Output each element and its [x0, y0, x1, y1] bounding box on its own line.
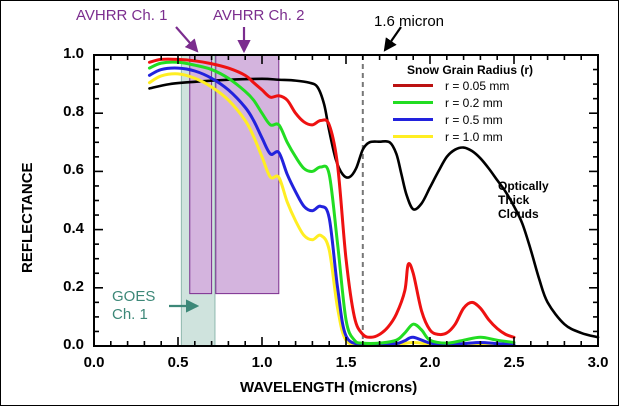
legend-swatch [393, 84, 433, 87]
legend-label: r = 0.5 mm [445, 113, 503, 127]
goes-ch1-annotation-line1: GOES [112, 288, 155, 305]
avhrr-ch1-annotation: AVHRR Ch. 1 [76, 7, 167, 24]
y-axis-title: REFLECTANCE [19, 162, 36, 273]
x-tick-label: 3.0 [582, 354, 614, 371]
y-tick-label: 0.8 [46, 103, 84, 120]
y-tick-label: 1.0 [46, 45, 84, 62]
clouds-annotation-line3: Clouds [498, 207, 539, 221]
x-tick-label: 2.5 [498, 354, 530, 371]
x-tick-label: 1.5 [330, 354, 362, 371]
y-tick-label: 0.4 [46, 220, 84, 237]
legend-item: r = 0.2 mm [393, 94, 533, 111]
clouds-annotation-line1: Optically [498, 179, 549, 193]
avhrr-ch2-annotation: AVHRR Ch. 2 [213, 7, 304, 24]
legend-item: r = 0.5 mm [393, 111, 533, 128]
goes-ch1-annotation-line2: Ch. 1 [112, 306, 148, 323]
micron-1-6-annotation: 1.6 micron [374, 13, 444, 30]
arrow-avhrr-ch1 [176, 27, 197, 51]
legend-label: r = 1.0 mm [445, 130, 503, 144]
chart-figure: WAVELENGTH (microns) REFLECTANCE AVHRR C… [0, 0, 619, 406]
x-axis-title: WAVELENGTH (microns) [240, 379, 417, 396]
band-avhrr-ch-1 [190, 55, 212, 294]
clouds-annotation-line2: Thick [498, 193, 529, 207]
legend-label: r = 0.05 mm [445, 79, 509, 93]
x-tick-label: 1.0 [246, 354, 278, 371]
x-tick-label: 0.5 [162, 354, 194, 371]
y-tick-label: 0.2 [46, 278, 84, 295]
legend-items: r = 0.05 mmr = 0.2 mmr = 0.5 mmr = 1.0 m… [393, 77, 533, 145]
legend: Snow Grain Radius (r) r = 0.05 mmr = 0.2… [393, 63, 533, 145]
legend-swatch [393, 118, 433, 121]
legend-swatch [393, 135, 433, 138]
x-tick-label: 2.0 [414, 354, 446, 371]
legend-swatch [393, 101, 433, 104]
y-tick-label: 0.6 [46, 161, 84, 178]
x-tick-label: 0.0 [78, 354, 110, 371]
legend-item: r = 0.05 mm [393, 77, 533, 94]
legend-item: r = 1.0 mm [393, 128, 533, 145]
arrow-1-6-micron [385, 27, 401, 50]
legend-label: r = 0.2 mm [445, 96, 503, 110]
y-tick-label: 0.0 [46, 336, 84, 353]
legend-title: Snow Grain Radius (r) [407, 63, 533, 77]
